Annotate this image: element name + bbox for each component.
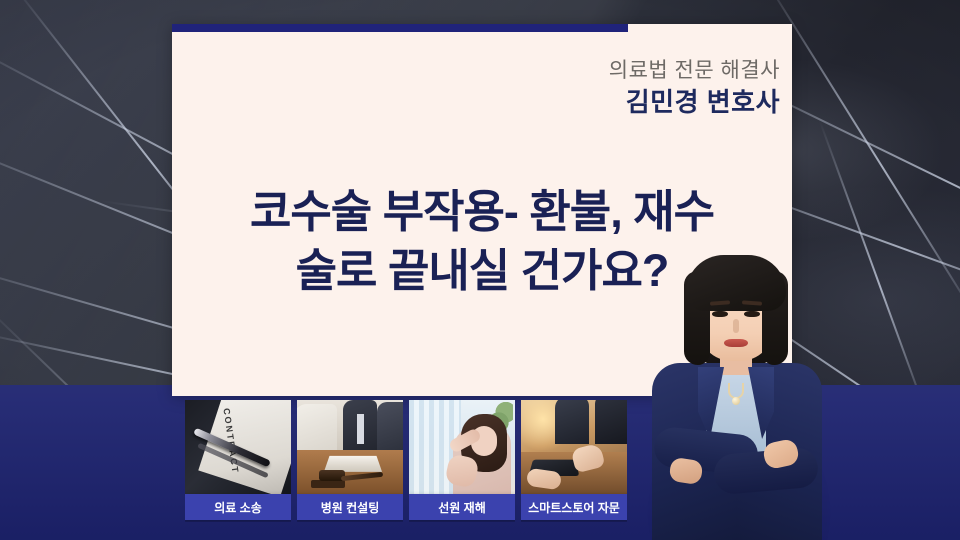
service-thumbnail-row: 의료 소송 병원 컨설팅 선원 재해 [185, 400, 647, 522]
card-top-accent-bar [172, 24, 628, 32]
service-image-smartstore-advisory [521, 400, 627, 496]
service-card-smartstore-advisory[interactable]: 스마트스토어 자문 [521, 400, 627, 522]
lawyer-name: 김민경 변호사 [626, 82, 780, 119]
lawyer-portrait [636, 255, 836, 540]
service-image-seafarer-accident [409, 400, 515, 496]
service-caption: 스마트스토어 자문 [521, 494, 627, 520]
service-caption: 의료 소송 [185, 494, 291, 520]
service-image-hospital-consulting [297, 400, 403, 496]
service-card-medical-litigation[interactable]: 의료 소송 [185, 400, 291, 522]
service-caption: 병원 컨설팅 [297, 494, 403, 520]
service-card-hospital-consulting[interactable]: 병원 컨설팅 [297, 400, 403, 522]
service-caption: 선원 재해 [409, 494, 515, 520]
eyebrow-text: 의료법 전문 해결사 [609, 54, 780, 84]
service-card-seafarer-accident[interactable]: 선원 재해 [409, 400, 515, 522]
headline-line-1: 코수술 부작용- 환불, 재수 [250, 186, 714, 237]
service-image-medical-litigation [185, 400, 291, 496]
